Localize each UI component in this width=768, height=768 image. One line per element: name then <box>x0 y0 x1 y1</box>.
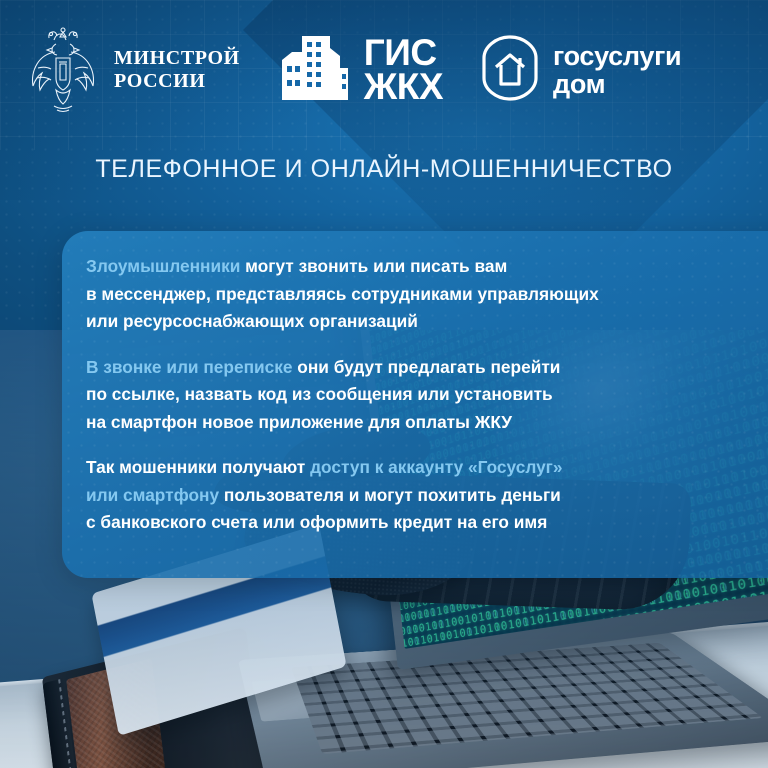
double-headed-eagle-icon <box>26 26 100 114</box>
paragraph-3-lead: Так мошенники получают <box>86 457 310 477</box>
paragraph-2-line1-rest: они будут предлагать перейти <box>293 357 561 377</box>
page-title: ТЕЛЕФОННОЕ И ОНЛАЙН-МОШЕННИЧЕСТВО <box>0 155 768 184</box>
paragraph-2-line2: по ссылке, назвать код из сообщения или … <box>86 384 553 404</box>
logo-gis-line2: ЖКХ <box>364 70 443 104</box>
logo-gis-text: ГИС ЖКХ <box>364 36 443 104</box>
logo-gos-line2: дом <box>553 70 681 98</box>
paragraph-3-highlight-2: или смартфону <box>86 485 219 505</box>
buildings-icon <box>278 34 354 107</box>
paragraph-2: В звонке или переписке они будут предлаг… <box>86 354 768 437</box>
paragraph-2-line3: на смартфон новое приложение для оплаты … <box>86 412 512 432</box>
paragraph-2-highlight: В звонке или переписке <box>86 357 293 377</box>
paragraph-1-line2: в мессенджер, представляясь сотрудниками… <box>86 284 599 304</box>
logo-gos-text: госуслуги дом <box>553 42 681 98</box>
paragraph-1-line3: или ресурсоснабжающих организаций <box>86 311 418 331</box>
paragraph-1-highlight: Злоумышленники <box>86 256 240 276</box>
paragraph-3: Так мошенники получают доступ к аккаунту… <box>86 454 768 537</box>
house-in-hexagon-icon <box>479 34 541 107</box>
logo-minstroy-line2: РОССИИ <box>114 70 240 93</box>
paragraph-3-line2-rest: пользователя и могут похитить деньги <box>219 485 561 505</box>
paragraph-1-line1-rest: могут звонить или писать вам <box>240 256 507 276</box>
paragraph-3-line3: с банковского счета или оформить кредит … <box>86 512 547 532</box>
logo-gosuslugi-dom[interactable]: госуслуги дом <box>479 34 681 107</box>
logo-gis-zhkh[interactable]: ГИС ЖКХ <box>278 34 443 107</box>
logo-gos-line1: госуслуги <box>553 42 681 70</box>
header: МИНСТРОЙ РОССИИ <box>0 0 768 140</box>
text-panel: Злоумышленники могут звонить или писать … <box>62 231 768 578</box>
logo-gis-line1: ГИС <box>364 36 443 70</box>
logo-minstroy-text: МИНСТРОЙ РОССИИ <box>114 47 240 93</box>
infographic-poster: 0110100101100001011010010110111001100111… <box>0 0 768 768</box>
laptop-keyboard <box>291 643 763 754</box>
logo-minstroy-line1: МИНСТРОЙ <box>114 47 240 70</box>
paragraph-1: Злоумышленники могут звонить или писать … <box>86 253 768 336</box>
paragraph-3-highlight: доступ к аккаунту «Госуслуг» <box>310 457 562 477</box>
logo-minstroy[interactable]: МИНСТРОЙ РОССИИ <box>26 26 240 114</box>
panel-text-body: Злоумышленники могут звонить или писать … <box>86 253 768 537</box>
